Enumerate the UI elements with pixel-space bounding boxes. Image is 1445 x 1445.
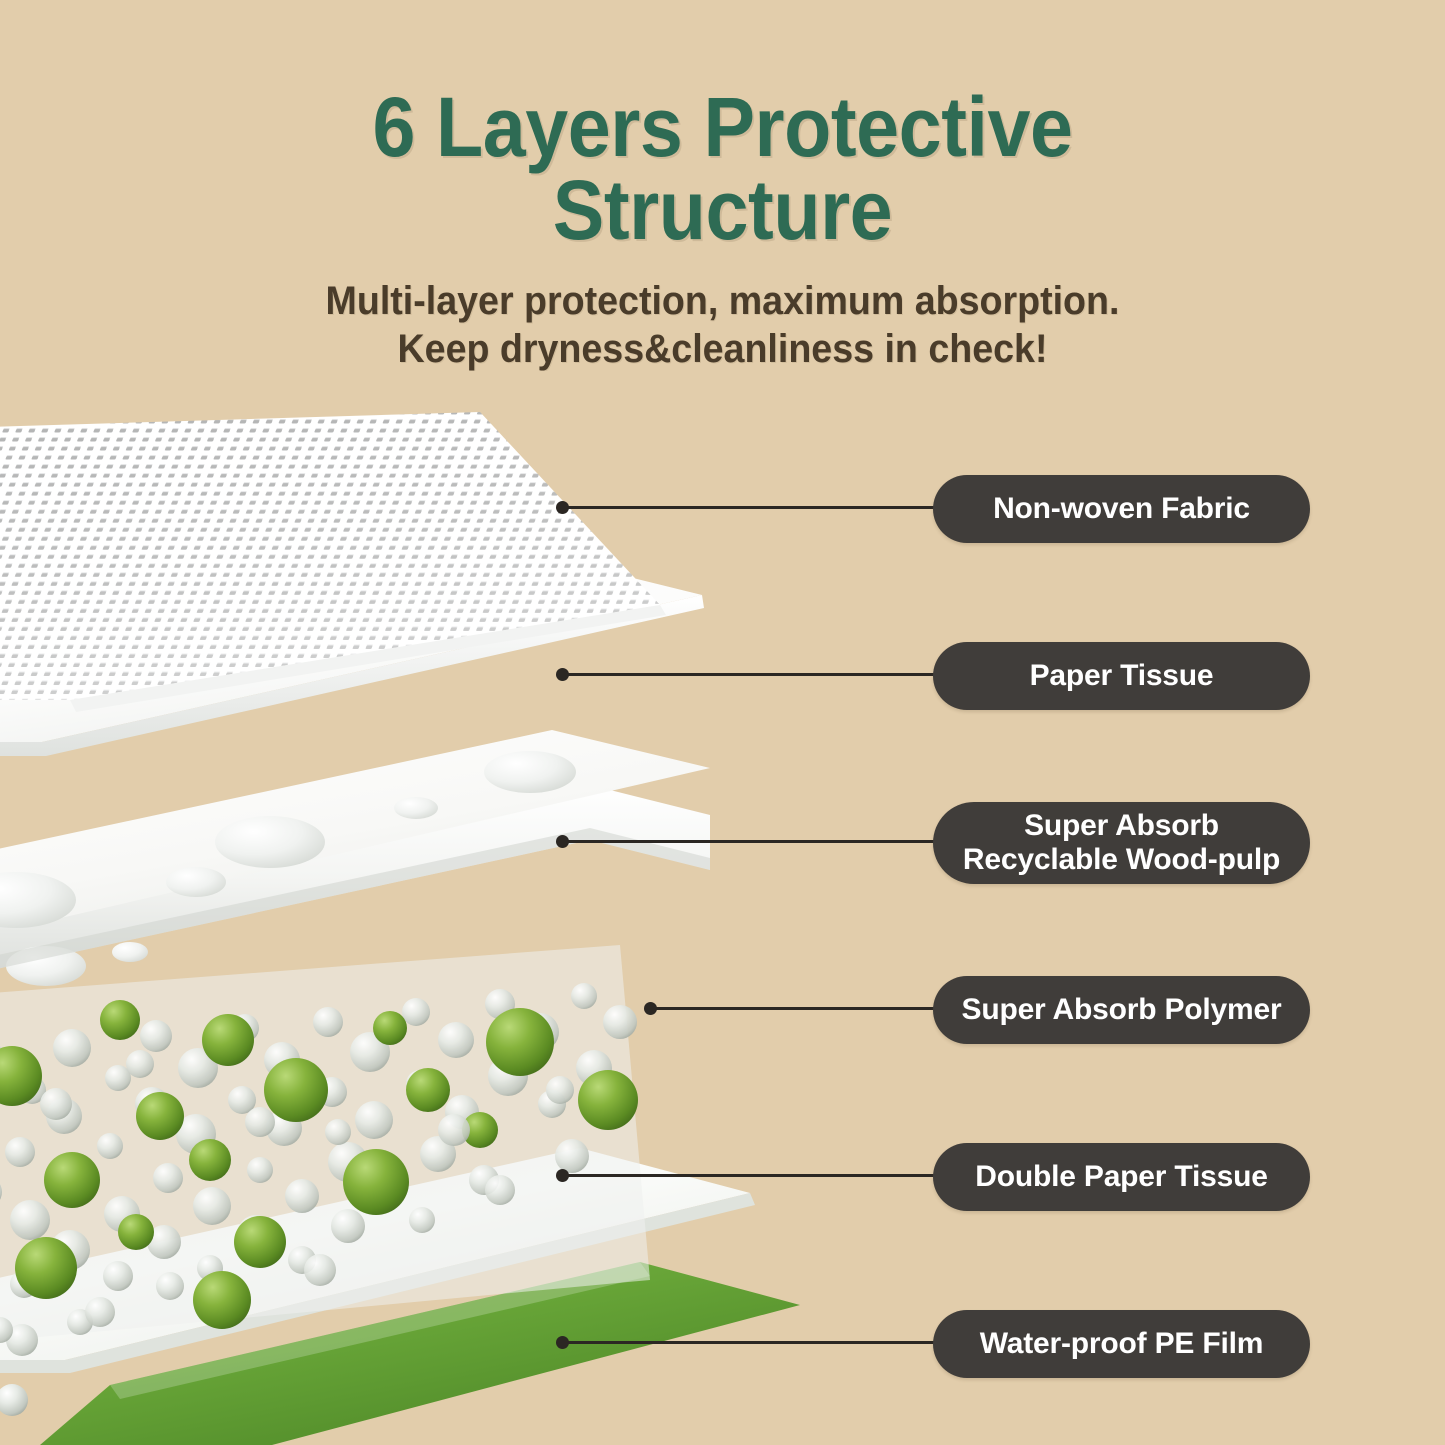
callout-pe-film[interactable]: Water-proof PE Film: [933, 1310, 1310, 1378]
leader-line-paper-tissue: [562, 673, 937, 676]
callout-label-double-paper-tissue: Double Paper Tissue: [975, 1160, 1267, 1194]
callout-double-paper-tissue[interactable]: Double Paper Tissue: [933, 1143, 1310, 1211]
callout-label-polymer: Super Absorb Polymer: [962, 993, 1282, 1027]
callout-label-pe-film: Water-proof PE Film: [980, 1327, 1263, 1361]
infographic-stage: 6 Layers Protective Structure Multi-laye…: [0, 0, 1445, 1445]
callout-label-wood-pulp-line-2: Recyclable Wood-pulp: [963, 843, 1280, 877]
leader-line-wood-pulp: [562, 840, 937, 843]
layer-stack-illustration: [0, 400, 800, 1445]
header: 6 Layers Protective Structure Multi-laye…: [0, 0, 1445, 373]
subtitle-line-2: Keep dryness&cleanliness in check!: [43, 326, 1401, 373]
subtitle-line-1: Multi-layer protection, maximum absorpti…: [43, 278, 1401, 325]
callout-label-wood-pulp-line-1: Super Absorb: [1024, 809, 1219, 843]
callout-label-paper-tissue: Paper Tissue: [1030, 659, 1214, 693]
stray-bead: [0, 1384, 28, 1416]
callout-polymer[interactable]: Super Absorb Polymer: [933, 976, 1310, 1044]
leader-line-pe-film: [562, 1341, 937, 1344]
layer-non-woven-fabric: [0, 412, 666, 712]
callout-paper-tissue[interactable]: Paper Tissue: [933, 642, 1310, 710]
callout-wood-pulp[interactable]: Super Absorb Recyclable Wood-pulp: [933, 802, 1310, 884]
leader-line-polymer: [650, 1007, 937, 1010]
leader-line-non-woven-fabric: [562, 506, 937, 509]
callout-non-woven-fabric[interactable]: Non-woven Fabric: [933, 475, 1310, 543]
leader-line-double-paper-tissue: [562, 1174, 937, 1177]
title-line-2: Structure: [58, 169, 1387, 252]
title-line-1: 6 Layers Protective: [58, 86, 1387, 169]
callout-label-non-woven-fabric: Non-woven Fabric: [993, 492, 1250, 526]
page-title: 6 Layers Protective Structure: [58, 0, 1387, 252]
page-subtitle: Multi-layer protection, maximum absorpti…: [43, 252, 1401, 372]
